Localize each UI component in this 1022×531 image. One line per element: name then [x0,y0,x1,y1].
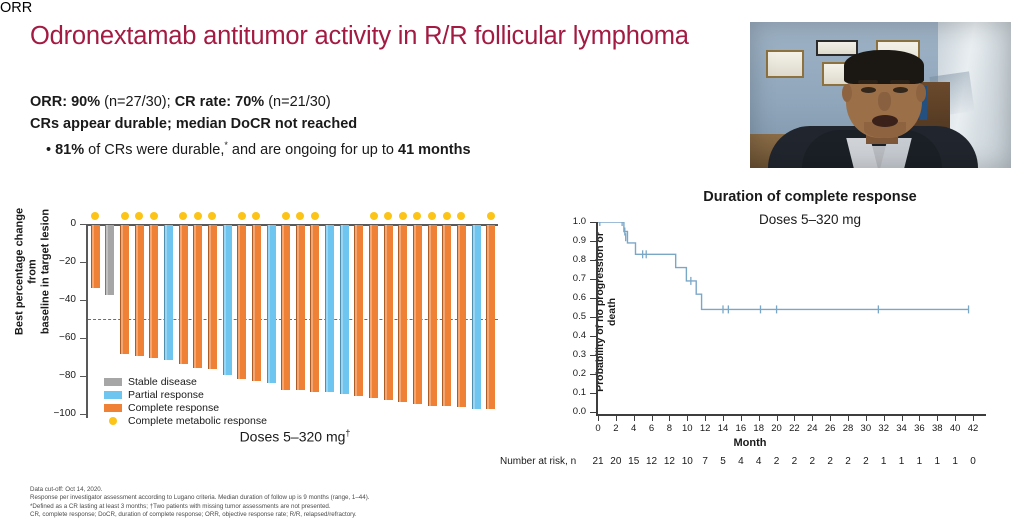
orr-y-tick [80,300,86,301]
complete-metabolic-response-dot [282,212,290,220]
km-y-tick-label: 0.9 [560,235,586,246]
orr-bar [91,225,100,288]
km-x-tick-label: 10 [678,423,696,434]
km-x-tick [955,416,956,421]
complete-metabolic-response-dot [487,212,495,220]
orr-bar [105,225,114,295]
orr-bar-shading [164,225,173,360]
orr-bar-shading [486,225,495,409]
km-y-tick [590,298,596,299]
km-x-tick-label: 20 [768,423,786,434]
complete-metabolic-response-dot [121,212,129,220]
km-y-tick-label: 0.0 [560,406,586,417]
km-number-at-risk-value: 0 [964,456,982,467]
km-number-at-risk-value: 1 [893,456,911,467]
orr-x-axis-title-text: Doses 5–320 mg [240,429,346,445]
km-plot-area [598,222,983,412]
orr-label: ORR: [30,94,67,110]
km-number-at-risk-value: 1 [928,456,946,467]
cr-rate-n: (n=21/30) [268,94,330,110]
km-y-tick-label: 0.5 [560,311,586,322]
km-x-tick-label: 4 [625,423,643,434]
orr-bar [237,225,246,379]
orr-bar-shading [354,225,363,396]
orr-bar [413,225,422,404]
orr-bar-shading [428,225,437,406]
km-y-tick-label: 0.3 [560,349,586,360]
km-x-tick-label: 38 [928,423,946,434]
orr-legend-item: Stable disease [104,375,267,388]
km-step-curve [598,222,969,309]
footnote-line: Data cut-off: Oct 14, 2020. [30,486,630,494]
complete-metabolic-response-dot [252,212,260,220]
orr-bar-shading [457,225,466,407]
km-x-tick [973,416,974,421]
footnote-line: *Defined as a CR lasting at least 3 mont… [30,503,630,511]
orr-bar [120,225,129,354]
km-x-tick-label: 2 [607,423,625,434]
orr-bar-shading [91,225,100,288]
orr-bar-shading [237,225,246,379]
complete-metabolic-response-dot [457,212,465,220]
km-number-at-risk-value: 1 [875,456,893,467]
footnotes: Data cut-off: Oct 14, 2020.Response per … [30,486,630,520]
bullet-line-docr: CRs appear durable; median DoCR not reac… [30,114,730,136]
orr-bar [149,225,158,358]
complete-metabolic-response-dot [384,212,392,220]
orr-bar-shading [296,225,305,390]
km-x-tick-label: 42 [964,423,982,434]
km-x-tick [723,416,724,421]
km-x-tick-label: 36 [910,423,928,434]
orr-bar-shading [442,225,451,406]
km-x-tick [937,416,938,421]
orr-bar [179,225,188,364]
km-x-tick-label: 16 [732,423,750,434]
orr-y-tick [80,338,86,339]
km-x-tick-label: 40 [946,423,964,434]
bullet-marker: • [46,142,51,158]
legend-dot-swatch [104,417,122,425]
orr-bar [310,225,319,392]
km-x-tick-label: 0 [589,423,607,434]
km-x-tick-label: 34 [893,423,911,434]
km-x-tick [812,416,813,421]
km-x-tick [866,416,867,421]
orr-bar-shading [310,225,319,392]
orr-legend: Stable diseasePartial responseComplete r… [104,375,267,427]
orr-bar-shading [208,225,217,369]
orr-bar [442,225,451,406]
orr-y-tick [80,224,86,225]
bullet-line-orr: ORR: 90% (n=27/30); CR rate: 70% (n=21/3… [30,92,730,114]
complete-metabolic-response-dot [91,212,99,220]
durable-text: of CRs were durable, [88,142,224,158]
orr-bar [193,225,202,368]
km-x-tick-label: 32 [875,423,893,434]
km-x-tick-label: 12 [696,423,714,434]
orr-bar-shading [179,225,188,364]
orr-y-tick [80,376,86,377]
km-y-tick [590,241,596,242]
orr-bar-shading [384,225,393,400]
orr-bar-shading [340,225,349,394]
km-number-at-risk-value: 10 [678,456,696,467]
bullet-line-durable: • 81% of CRs were durable,* and are ongo… [30,135,730,161]
km-number-at-risk-value: 20 [607,456,625,467]
complete-metabolic-response-dot [443,212,451,220]
km-x-tick [830,416,831,421]
footnote-star: * [224,140,228,150]
orr-bar-shading [472,225,481,409]
orr-bar [252,225,261,381]
km-x-tick [919,416,920,421]
orr-bar [223,225,232,375]
orr-legend-label: Stable disease [128,376,197,388]
km-x-tick [652,416,653,421]
km-number-at-risk-value: 1 [946,456,964,467]
km-y-tick [590,260,596,261]
orr-legend-label: Complete response [128,402,219,414]
km-number-at-risk-value: 1 [910,456,928,467]
orr-bar [208,225,217,369]
complete-metabolic-response-dot [428,212,436,220]
orr-bar-shading [369,225,378,398]
complete-metabolic-response-dot [296,212,304,220]
km-y-tick [590,317,596,318]
km-y-tick [590,374,596,375]
km-x-tick [759,416,760,421]
km-x-tick-label: 28 [839,423,857,434]
complete-metabolic-response-dot [370,212,378,220]
orr-bar [472,225,481,409]
km-x-tick-label: 14 [714,423,732,434]
km-number-at-risk-value: 2 [785,456,803,467]
page-title: Odronextamab antitumor activity in R/R f… [30,22,740,51]
km-x-tick-label: 22 [785,423,803,434]
durable-months: 41 months [398,142,471,158]
orr-y-tick-label: −40 [42,294,76,305]
durable-text-2: and are ongoing for up to [232,142,394,158]
footnote-line: Response per investigator assessment acc… [30,494,630,502]
legend-bar-swatch [104,378,122,386]
orr-bar-shading [105,225,114,295]
orr-y-tick-label: −20 [42,256,76,267]
orr-y-tick-label: −100 [42,408,76,419]
km-x-tick-label: 6 [643,423,661,434]
orr-bar [135,225,144,356]
orr-bar [267,225,276,383]
km-number-at-risk-value: 7 [696,456,714,467]
km-number-at-risk-value: 2 [857,456,875,467]
km-y-tick [590,222,596,223]
orr-bar-shading [252,225,261,381]
km-x-tick-label: 8 [660,423,678,434]
orr-bar [281,225,290,390]
orr-legend-item: Complete response [104,401,267,414]
km-y-tick [590,336,596,337]
complete-metabolic-response-dot [399,212,407,220]
km-x-tick-label: 24 [803,423,821,434]
orr-n: (n=27/30); [104,94,171,110]
km-number-at-risk-value: 21 [589,456,607,467]
km-y-tick-label: 0.4 [560,330,586,341]
legend-bar-swatch [104,391,122,399]
orr-y-tick-label: −60 [42,332,76,343]
orr-bar [384,225,393,400]
km-x-tick [616,416,617,421]
orr-value: 90% [71,94,100,110]
km-y-tick [590,279,596,280]
km-y-tick [590,355,596,356]
orr-bar-shading [149,225,158,358]
orr-bar-shading [398,225,407,402]
orr-bar-shading [413,225,422,404]
orr-legend-label: Complete metabolic response [128,415,267,427]
km-number-at-risk-value: 12 [643,456,661,467]
orr-y-axis-title-line1: Best percentage change from [14,208,39,335]
orr-bar [325,225,334,392]
orr-bar-shading [120,225,129,354]
km-number-at-risk-value: 2 [821,456,839,467]
km-x-axis-title: Month [700,437,800,449]
km-y-tick [590,412,596,413]
km-x-tick-label: 26 [821,423,839,434]
km-x-tick [687,416,688,421]
orr-bar-shading [325,225,334,392]
orr-bar [457,225,466,407]
presenter-webcam-feed[interactable] [750,22,1011,168]
complete-metabolic-response-dot [208,212,216,220]
km-number-at-risk-value: 4 [732,456,750,467]
km-number-at-risk-value: 2 [839,456,857,467]
km-x-tick [598,416,599,421]
complete-metabolic-response-dot [150,212,158,220]
km-x-tick [669,416,670,421]
km-x-tick [705,416,706,421]
km-y-tick-label: 0.2 [560,368,586,379]
summary-bullets: ORR: 90% (n=27/30); CR rate: 70% (n=21/3… [30,92,730,161]
km-x-tick [634,416,635,421]
km-x-axis [596,414,986,416]
orr-y-tick [80,414,86,415]
orr-x-axis-title: Doses 5–320 mg† [150,428,440,445]
orr-x-axis-dagger: † [345,428,350,438]
km-x-tick [741,416,742,421]
km-x-tick [848,416,849,421]
video-vignette [750,22,1011,168]
complete-metabolic-response-dot [238,212,246,220]
km-curve-svg [598,222,983,412]
km-y-tick-label: 0.6 [560,292,586,303]
cr-rate-value: 70% [235,94,264,110]
km-x-tick-label: 30 [857,423,875,434]
orr-bar-shading [193,225,202,368]
orr-bar [486,225,495,409]
complete-metabolic-response-dot [413,212,421,220]
orr-bar [428,225,437,406]
km-y-tick-label: 0.1 [560,387,586,398]
km-number-at-risk-value: 4 [750,456,768,467]
presentation-slide: Odronextamab antitumor activity in R/R f… [0,0,1022,531]
km-number-at-risk-value: 12 [660,456,678,467]
legend-bar-swatch [104,404,122,412]
orr-legend-item: Partial response [104,388,267,401]
orr-legend-label: Partial response [128,389,204,401]
km-number-at-risk-value: 2 [803,456,821,467]
orr-chart-title: ORR [0,0,220,16]
km-x-tick [902,416,903,421]
km-number-at-risk-value: 15 [625,456,643,467]
km-y-tick-label: 1.0 [560,216,586,227]
km-x-tick [777,416,778,421]
km-number-at-risk-value: 5 [714,456,732,467]
km-x-tick [794,416,795,421]
orr-legend-item: Complete metabolic response [104,414,267,427]
complete-metabolic-response-dot [311,212,319,220]
orr-bar [398,225,407,402]
complete-metabolic-response-dot [194,212,202,220]
orr-bar [164,225,173,360]
orr-bar-shading [223,225,232,375]
km-x-tick [884,416,885,421]
footnote-line: CR, complete response; DoCR, duration of… [30,511,630,519]
complete-metabolic-response-dot [135,212,143,220]
km-number-at-risk-value: 2 [768,456,786,467]
km-y-tick-label: 0.8 [560,254,586,265]
complete-metabolic-response-dot [179,212,187,220]
km-y-tick [590,393,596,394]
durable-pct: 81% [55,142,84,158]
km-number-at-risk-label: Number at risk, n [500,456,576,467]
orr-y-tick [80,262,86,263]
orr-y-tick-label: 0 [42,218,76,229]
orr-bar [354,225,363,396]
km-x-tick-label: 18 [750,423,768,434]
orr-bar [296,225,305,390]
orr-bar-shading [135,225,144,356]
km-y-tick-label: 0.7 [560,273,586,284]
orr-bar [369,225,378,398]
orr-bar [340,225,349,394]
km-chart-title: Duration of complete response [620,189,1000,205]
cr-rate-label: CR rate: [175,94,231,110]
orr-bar-shading [281,225,290,390]
orr-y-tick-label: −80 [42,370,76,381]
orr-bar-shading [267,225,276,383]
